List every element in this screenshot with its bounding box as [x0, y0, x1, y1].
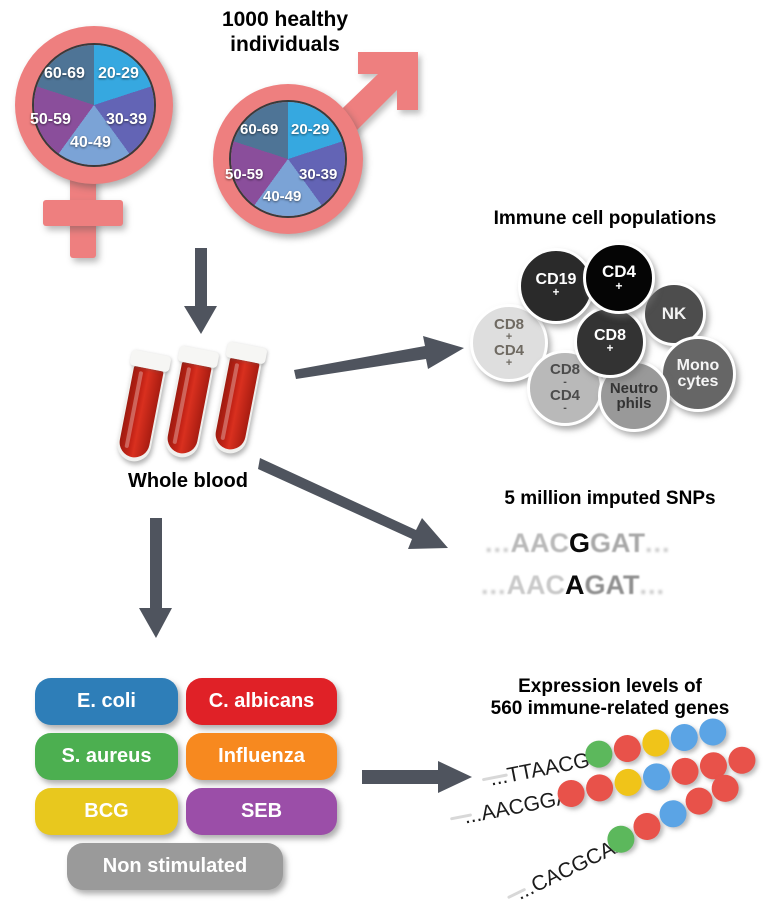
pie-label-60-69-male: 60-69 [240, 121, 278, 138]
snp-sequence-row: ...AACAGAT... [481, 570, 665, 601]
dna-bead [640, 727, 672, 759]
arrow-blood-to-stimulations [133, 518, 179, 640]
snp-ellipsis-right: ... [645, 528, 671, 558]
snp-suffix-bases: GAT [590, 528, 645, 558]
stimulation-pill-s-aureus[interactable]: S. aureus [35, 733, 178, 780]
snp-ellipsis-left: ... [485, 528, 511, 558]
stimulation-pill-e-coli[interactable]: E. coli [35, 678, 178, 725]
snp-ellipsis-left: ... [481, 570, 507, 600]
pie-label-60-69-female: 60-69 [44, 65, 85, 83]
snp-suffix-bases: GAT [585, 570, 640, 600]
cell-label-line1: CD8+ [494, 317, 524, 343]
pie-label-50-59-female: 50-59 [30, 111, 71, 129]
pie-label-20-29-female: 20-29 [98, 65, 139, 83]
pie-label-30-39-male: 30-39 [299, 166, 337, 183]
pill-label: SEB [241, 800, 282, 823]
male-symbol-with-age-pie: 60-69 20-29 30-39 40-49 50-59 [205, 78, 405, 253]
stimulation-pill-c-albicans[interactable]: C. albicans [186, 678, 337, 725]
snp-prefix-bases: AAC [507, 570, 566, 600]
snp-sequence-row: ...AACGGAT... [485, 528, 671, 559]
cell-bubble-cd4p: CD4+ [583, 242, 655, 314]
pie-label-30-39-female: 30-39 [106, 111, 147, 129]
pill-label: C. albicans [209, 690, 315, 713]
cell-label-line1: CD4+ [602, 263, 636, 293]
cell-label-line1: CD8- [550, 362, 580, 388]
section-title-expression: Expression levels of 560 immune-related … [455, 676, 765, 721]
stimulation-pill-bcg[interactable]: BCG [35, 788, 178, 835]
snp-highlight-base: A [565, 570, 585, 600]
snp-highlight-base: G [569, 528, 590, 558]
pie-label-40-49-female: 40-49 [70, 134, 111, 152]
dna-bead [669, 755, 701, 787]
snp-prefix-bases: AAC [511, 528, 570, 558]
dna-bead [612, 733, 644, 765]
arrow-blood-to-snps [258, 452, 458, 562]
stimulation-pill-influenza[interactable]: Influenza [186, 733, 337, 780]
cell-label-line1: CD19+ [536, 272, 577, 300]
cell-label-line1: Mono [677, 358, 720, 374]
cell-label-line2: CD4+ [494, 343, 524, 369]
cell-label-line1: NK [662, 305, 687, 322]
pie-label-40-49-male: 40-49 [263, 188, 301, 205]
dna-bead [584, 772, 616, 804]
cell-bubble-cd19p: CD19+ [518, 248, 594, 324]
dna-bead [668, 722, 700, 754]
pill-label: BCG [84, 800, 128, 823]
cell-label-line1: CD8+ [594, 328, 626, 356]
female-symbol-crossbar [43, 200, 123, 226]
pill-label: Non stimulated [103, 855, 247, 878]
pill-label: E. coli [77, 690, 136, 713]
stimulation-pill-non-stimulated[interactable]: Non stimulated [67, 843, 283, 890]
section-title-immune-cells: Immune cell populations [455, 208, 755, 230]
cell-label-line1: Neutro [610, 381, 658, 396]
dna-bead [612, 767, 644, 799]
dna-bead [641, 761, 673, 793]
pie-label-50-59-male: 50-59 [225, 166, 263, 183]
figure-canvas: 1000 healthy individuals Immune cell pop… [0, 0, 771, 922]
dna-bead [726, 744, 758, 776]
female-symbol-with-age-pie: 60-69 20-29 30-39 40-49 50-59 [10, 18, 190, 248]
stimulation-conditions: E. coli C. albicans S. aureus Influenza … [35, 678, 340, 893]
label-whole-blood: Whole blood [88, 470, 288, 493]
snp-sequences: ...AACGGAT... ...AACAGAT... [485, 528, 755, 613]
expression-dna-strands: ...TTAACGG ...AACGGAT ...CACGCAA [470, 730, 770, 915]
pie-label-20-29-male: 20-29 [291, 121, 329, 138]
cell-label-line2: phils [610, 396, 658, 411]
stimulation-pill-seb[interactable]: SEB [186, 788, 337, 835]
pill-label: Influenza [218, 745, 305, 768]
cell-label-line2: cytes [677, 374, 720, 390]
blood-tube [114, 348, 169, 464]
pill-label: S. aureus [61, 745, 151, 768]
arrow-stimulations-to-expression [362, 760, 474, 794]
arrow-individuals-to-blood [178, 248, 224, 336]
cell-bubble-monocytes: Mono cytes [660, 336, 736, 412]
immune-cell-population-bubbles: CD8+ CD4+ CD19+ CD4+ NK CD8+ Mono cytes … [470, 240, 760, 420]
section-title-snps: 5 million imputed SNPs [460, 488, 760, 510]
snp-ellipsis-right: ... [640, 570, 666, 600]
arrow-blood-to-immune-cells [292, 330, 467, 380]
dna-bead [697, 716, 729, 748]
cell-bubble-cd8p: CD8+ [574, 306, 646, 378]
whole-blood-tubes [110, 335, 290, 465]
cell-label-line2: CD4- [550, 388, 580, 414]
